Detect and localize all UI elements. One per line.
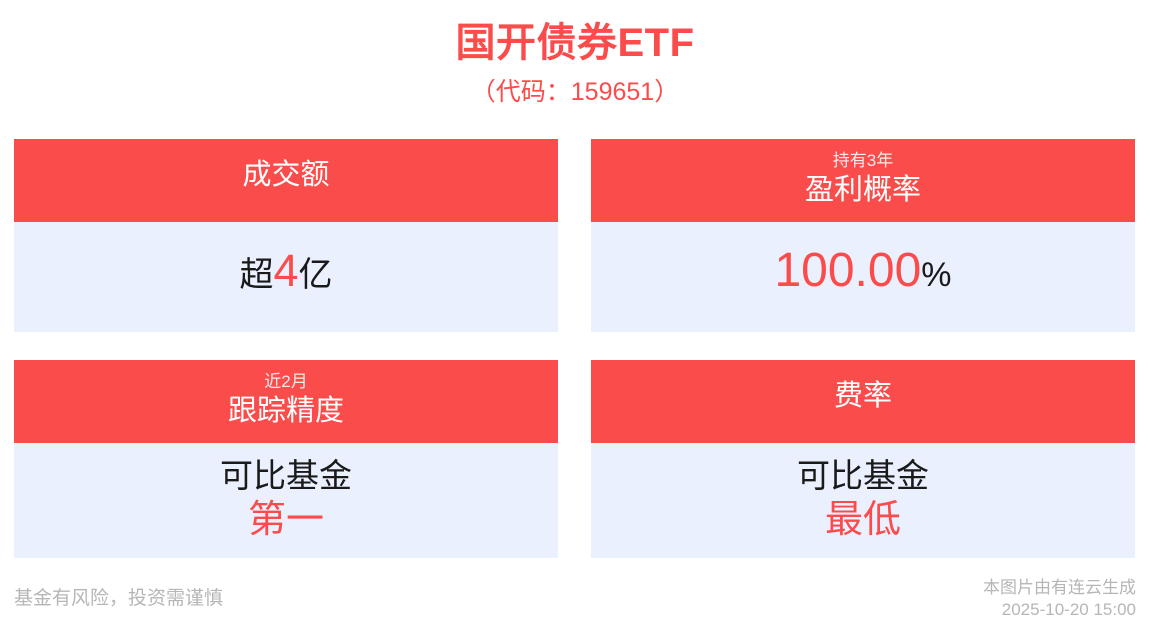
card-body: 超 4 亿: [14, 222, 558, 332]
value-top: 可比基金: [797, 455, 929, 497]
value-top: 可比基金: [220, 455, 352, 497]
value-suffix: %: [921, 247, 951, 303]
value-bottom: 最低: [825, 497, 901, 543]
value-accent: 4: [273, 249, 298, 293]
card-eyebrow: 持有3年: [833, 150, 893, 172]
card-eyebrow: 近2月: [264, 371, 307, 393]
card-header: 持有3年 盈利概率: [591, 139, 1135, 222]
card-label: 盈利概率: [805, 172, 921, 208]
page-header: 国开债券ETF （代码：159651）: [0, 0, 1150, 110]
value-bottom: 第一: [248, 497, 324, 543]
card-header: 费率: [591, 360, 1135, 443]
stat-card-tracking-accuracy[interactable]: 近2月 跟踪精度 可比基金 第一: [14, 360, 558, 558]
stat-card-turnover[interactable]: 成交额 超 4 亿: [14, 139, 558, 332]
stat-card-fee-rate[interactable]: 费率 可比基金 最低: [591, 360, 1135, 558]
page-title: 国开债券ETF: [0, 16, 1150, 70]
stat-card-grid: 成交额 超 4 亿 持有3年 盈利概率 100.00 % 近2月 跟踪精度: [14, 139, 1136, 558]
value-prefix: 超: [239, 253, 273, 297]
risk-disclaimer: 基金有风险，投资需谨慎: [14, 586, 223, 612]
generation-timestamp: 2025-10-20 15:00: [983, 599, 1136, 621]
page-subtitle-code: （代码：159651）: [0, 74, 1150, 110]
card-label: 费率: [834, 378, 892, 414]
value-suffix: 亿: [299, 253, 333, 297]
footer-meta: 本图片由有连云生成 2025-10-20 15:00: [983, 577, 1136, 621]
card-header: 近2月 跟踪精度: [14, 360, 558, 443]
card-label: 跟踪精度: [228, 393, 344, 429]
card-body: 可比基金 最低: [591, 443, 1135, 558]
card-value: 100.00 %: [774, 243, 951, 303]
image-source-label: 本图片由有连云生成: [983, 577, 1136, 599]
stat-card-profit-probability[interactable]: 持有3年 盈利概率 100.00 %: [591, 139, 1135, 332]
value-accent: 100.00: [774, 243, 921, 299]
card-body: 100.00 %: [591, 222, 1135, 332]
card-body: 可比基金 第一: [14, 443, 558, 558]
card-value: 超 4 亿: [239, 249, 332, 297]
card-label: 成交额: [242, 157, 329, 193]
card-header: 成交额: [14, 139, 558, 222]
page-footer: 基金有风险，投资需谨慎 本图片由有连云生成 2025-10-20 15:00: [0, 566, 1150, 632]
